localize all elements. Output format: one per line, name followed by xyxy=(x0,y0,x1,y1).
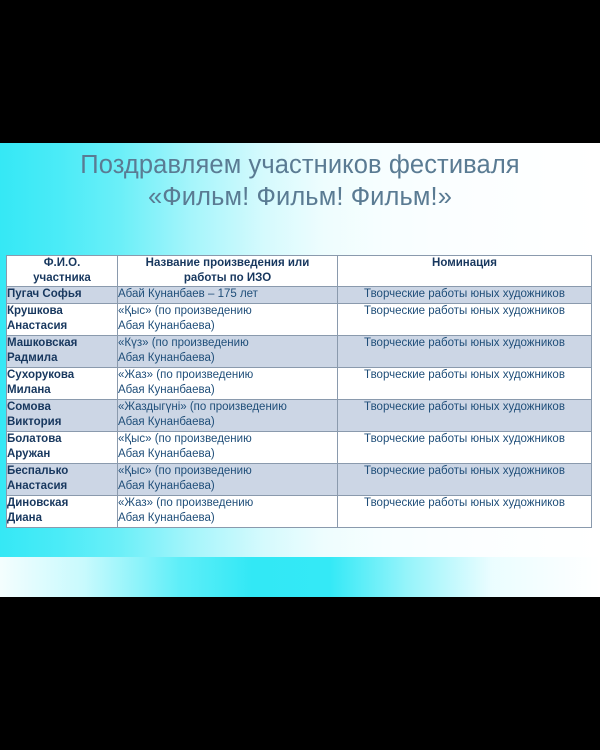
cell-participant-name: Сомова Виктория xyxy=(7,399,118,431)
cell-nomination: Творческие работы юных художников xyxy=(338,495,592,527)
table-row: Беспалько Анастасия «Қыс» (по произведен… xyxy=(7,463,592,495)
participant-name-line-1: Болатова xyxy=(7,433,62,445)
cell-participant-name: Машковская Радмила xyxy=(7,335,118,367)
cell-nomination: Творческие работы юных художников xyxy=(338,367,592,399)
screenshot-stage: Поздравляем участников фестиваля «Фильм!… xyxy=(0,0,600,750)
participant-name-line-1: Сомова xyxy=(7,401,51,413)
participant-name-line-1: Крушкова xyxy=(7,305,63,317)
cell-nomination: Творческие работы юных художников xyxy=(338,303,592,335)
work-title-line-2: Абая Кунанбаева) xyxy=(118,511,337,527)
work-title-line-2: Абая Кунанбаева) xyxy=(118,479,337,495)
participant-name-line-2: Анастасия xyxy=(7,479,117,495)
cell-participant-name: Диновская Диана xyxy=(7,495,118,527)
work-title-line-2: Абая Кунанбаева) xyxy=(118,383,337,399)
cell-nomination: Творческие работы юных художников xyxy=(338,287,592,304)
work-title-line-2: Абая Кунанбаева) xyxy=(118,447,337,463)
participants-table: Ф.И.О. участника Название произведения и… xyxy=(6,255,592,528)
table-body: Пугач Софья Абай Кунанбаев – 175 лет Тво… xyxy=(7,287,592,528)
table-row: Пугач Софья Абай Кунанбаев – 175 лет Тво… xyxy=(7,287,592,304)
participant-name-line-1: Диновская xyxy=(7,497,68,509)
cell-nomination: Творческие работы юных художников xyxy=(338,463,592,495)
slide-title-line-2: «Фильм! Фильм! Фильм!» xyxy=(0,181,600,213)
cell-work-title: «Қыс» (по произведению Абая Кунанбаева) xyxy=(118,463,338,495)
cell-nomination: Творческие работы юных художников xyxy=(338,335,592,367)
cell-nomination: Творческие работы юных художников xyxy=(338,399,592,431)
work-title-line-2: Абая Кунанбаева) xyxy=(118,415,337,431)
presentation-slide: Поздравляем участников фестиваля «Фильм!… xyxy=(0,143,600,597)
participant-name-line-2: Милана xyxy=(7,383,117,399)
table-row: Сухорукова Милана «Жаз» (по произведению… xyxy=(7,367,592,399)
cell-participant-name: Сухорукова Милана xyxy=(7,367,118,399)
cell-work-title: «Жаз» (по произведению Абая Кунанбаева) xyxy=(118,367,338,399)
column-header-work-line-1: Название произведения или xyxy=(146,257,310,269)
table-row: Диновская Диана «Жаз» (по произведению А… xyxy=(7,495,592,527)
column-header-fio: Ф.И.О. участника xyxy=(7,256,118,287)
cell-work-title: Абай Кунанбаев – 175 лет xyxy=(118,287,338,304)
participant-name-line-1: Беспалько xyxy=(7,465,68,477)
cell-work-title: «Жаз» (по произведению Абая Кунанбаева) xyxy=(118,495,338,527)
work-title-line-1: Абай Кунанбаев – 175 лет xyxy=(118,288,258,300)
table-header-row: Ф.И.О. участника Название произведения и… xyxy=(7,256,592,287)
work-title-line-1: «Жаздыгүні» (по произведению xyxy=(118,401,287,413)
column-header-work-line-2: работы по ИЗО xyxy=(118,271,337,286)
work-title-line-1: «Жаз» (по произведению xyxy=(118,497,253,509)
participant-name-line-2: Радмила xyxy=(7,351,117,367)
work-title-line-1: «Қыс» (по произведению xyxy=(118,433,252,445)
participant-name-line-2: Виктория xyxy=(7,415,117,431)
slide-title: Поздравляем участников фестиваля «Фильм!… xyxy=(0,149,600,213)
cell-work-title: «Жаздыгүні» (по произведению Абая Кунанб… xyxy=(118,399,338,431)
cell-work-title: «Күз» (по произведению Абая Кунанбаева) xyxy=(118,335,338,367)
work-title-line-2: Абая Кунанбаева) xyxy=(118,319,337,335)
work-title-line-1: «Қыс» (по произведению xyxy=(118,305,252,317)
column-header-nomination-line-1: Номинация xyxy=(432,257,497,269)
work-title-line-1: «Күз» (по произведению xyxy=(118,337,249,349)
column-header-fio-line-2: участника xyxy=(7,271,117,286)
cell-participant-name: Пугач Софья xyxy=(7,287,118,304)
table-row: Сомова Виктория «Жаздыгүні» (по произвед… xyxy=(7,399,592,431)
slide-title-line-1: Поздравляем участников фестиваля xyxy=(0,149,600,181)
column-header-nomination: Номинация xyxy=(338,256,592,287)
participants-table-container: Ф.И.О. участника Название произведения и… xyxy=(6,255,591,528)
cell-nomination: Творческие работы юных художников xyxy=(338,431,592,463)
cell-work-title: «Қыс» (по произведению Абая Кунанбаева) xyxy=(118,303,338,335)
participant-name-line-2: Диана xyxy=(7,511,117,527)
participant-name-line-2: Аружан xyxy=(7,447,117,463)
column-header-fio-line-1: Ф.И.О. xyxy=(44,257,81,269)
cell-participant-name: Болатова Аружан xyxy=(7,431,118,463)
cell-participant-name: Беспалько Анастасия xyxy=(7,463,118,495)
table-row: Крушкова Анастасия «Қыс» (по произведени… xyxy=(7,303,592,335)
table-header: Ф.И.О. участника Название произведения и… xyxy=(7,256,592,287)
participant-name-line-2: Анастасия xyxy=(7,319,117,335)
table-row: Болатова Аружан «Қыс» (по произведению А… xyxy=(7,431,592,463)
cell-participant-name: Крушкова Анастасия xyxy=(7,303,118,335)
participant-name-line-1: Машковская xyxy=(7,337,77,349)
cell-work-title: «Қыс» (по произведению Абая Кунанбаева) xyxy=(118,431,338,463)
work-title-line-2: Абая Кунанбаева) xyxy=(118,351,337,367)
participant-name-line-1: Пугач Софья xyxy=(7,288,82,300)
work-title-line-1: «Жаз» (по произведению xyxy=(118,369,253,381)
table-row: Машковская Радмила «Күз» (по произведени… xyxy=(7,335,592,367)
work-title-line-1: «Қыс» (по произведению xyxy=(118,465,252,477)
column-header-work: Название произведения или работы по ИЗО xyxy=(118,256,338,287)
participant-name-line-1: Сухорукова xyxy=(7,369,74,381)
